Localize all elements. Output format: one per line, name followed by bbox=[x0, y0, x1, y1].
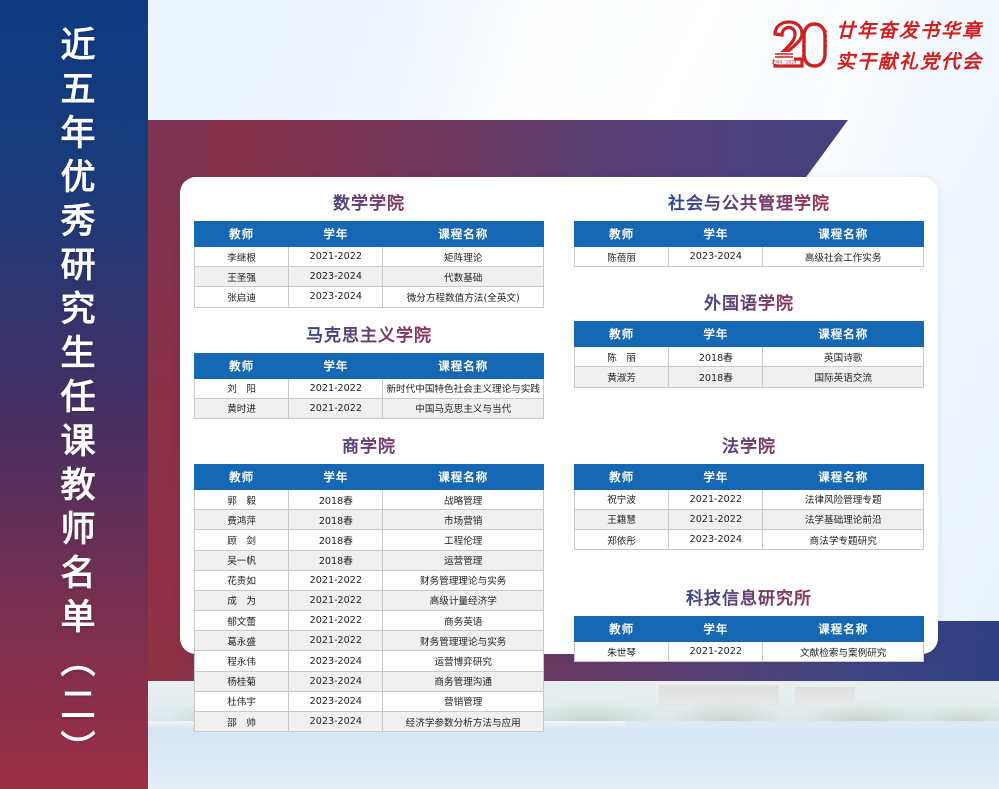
department-table: 教师学年课程名称祝宁波2021-2022法律风险管理专题王籍慧2021-2022… bbox=[574, 464, 924, 551]
table-header-row: 教师学年课程名称 bbox=[575, 464, 924, 489]
course-name-cell: 营销管理 bbox=[383, 691, 544, 711]
anniversary-logo: 2004 · 2024 廿年奋发书华章 实干献礼党代会 bbox=[771, 16, 983, 74]
table-header-row: 教师学年课程名称 bbox=[575, 222, 924, 247]
department-block: 数学学院教师学年课程名称李继根2021-2022矩阵理论王圣强2023-2024… bbox=[194, 189, 544, 308]
table-header-row: 教师学年课程名称 bbox=[195, 464, 544, 489]
department-block: 法学院教师学年课程名称祝宁波2021-2022法律风险管理专题王籍慧2021-2… bbox=[574, 432, 924, 551]
logo-slogan-line1: 廿年奋发书华章 bbox=[836, 16, 983, 43]
column-header: 学年 bbox=[669, 617, 763, 642]
teacher-name-cell: 朱世琴 bbox=[575, 642, 669, 662]
academic-year-cell: 2018春 bbox=[289, 510, 383, 530]
logo-years-text: 2004 · 2024 bbox=[771, 60, 797, 65]
course-name-cell: 英国诗歌 bbox=[763, 347, 924, 367]
column-header: 教师 bbox=[575, 464, 669, 489]
academic-year-cell: 2021-2022 bbox=[289, 611, 383, 631]
academic-year-cell: 2021-2022 bbox=[289, 398, 383, 418]
column-header: 学年 bbox=[669, 464, 763, 489]
department-block: 科技信息研究所教师学年课程名称朱世琴2021-2022文献检索与案例研究 bbox=[574, 584, 924, 662]
teacher-name-cell: 程永伟 bbox=[195, 651, 289, 671]
course-name-cell: 商务管理沟通 bbox=[383, 671, 544, 691]
table-row: 李继根2021-2022矩阵理论 bbox=[195, 247, 544, 267]
academic-year-cell: 2023-2024 bbox=[289, 671, 383, 691]
table-row: 王籍慧2021-2022法学基础理论前沿 bbox=[575, 509, 924, 529]
department-title: 法学院 bbox=[574, 432, 924, 457]
column-header: 教师 bbox=[195, 353, 289, 378]
teacher-name-cell: 杜伟宇 bbox=[195, 691, 289, 711]
teacher-name-cell: 花贵如 bbox=[195, 570, 289, 590]
department-title: 社会与公共管理学院 bbox=[574, 189, 924, 214]
academic-year-cell: 2018春 bbox=[289, 550, 383, 570]
table-row: 刘 阳2021-2022新时代中国特色社会主义理论与实践 bbox=[195, 378, 544, 398]
academic-year-cell: 2021-2022 bbox=[669, 509, 763, 529]
academic-year-cell: 2018春 bbox=[669, 347, 763, 367]
course-name-cell: 经济学参数分析方法与应用 bbox=[383, 712, 544, 732]
column-header: 课程名称 bbox=[383, 464, 544, 489]
teacher-name-cell: 杨桂菊 bbox=[195, 671, 289, 691]
teacher-name-cell: 费鸿萍 bbox=[195, 510, 289, 530]
table-row: 陈 丽2018春英国诗歌 bbox=[575, 347, 924, 367]
course-name-cell: 运营管理 bbox=[383, 550, 544, 570]
table-row: 成 为2021-2022高级计量经济学 bbox=[195, 590, 544, 610]
table-header-row: 教师学年课程名称 bbox=[575, 617, 924, 642]
table-row: 吴一帆2018春运营管理 bbox=[195, 550, 544, 570]
table-row: 顾 剑2018春工程伦理 bbox=[195, 530, 544, 550]
column-header: 学年 bbox=[289, 222, 383, 247]
department-title: 数学学院 bbox=[194, 189, 544, 214]
table-row: 祝宁波2021-2022法律风险管理专题 bbox=[575, 489, 924, 509]
academic-year-cell: 2018春 bbox=[289, 489, 383, 509]
course-name-cell: 中国马克思主义与当代 bbox=[383, 398, 544, 418]
department-block: 外国语学院教师学年课程名称陈 丽2018春英国诗歌黄淑芳2018春国际英语交流 bbox=[574, 289, 924, 387]
course-name-cell: 法律风险管理专题 bbox=[763, 489, 924, 509]
column-header: 教师 bbox=[575, 222, 669, 247]
table-row: 郁文蕾2021-2022商务英语 bbox=[195, 611, 544, 631]
teacher-name-cell: 葛永盛 bbox=[195, 631, 289, 651]
course-name-cell: 财务管理理论与实务 bbox=[383, 570, 544, 590]
content-card: 数学学院教师学年课程名称李继根2021-2022矩阵理论王圣强2023-2024… bbox=[180, 177, 938, 654]
column-header: 教师 bbox=[575, 617, 669, 642]
table-row: 邵 帅2023-2024经济学参数分析方法与应用 bbox=[195, 712, 544, 732]
table-row: 黄淑芳2018春国际英语交流 bbox=[575, 367, 924, 387]
table-row: 王圣强2023-2024代数基础 bbox=[195, 267, 544, 287]
logo-20-icon: 2004 · 2024 bbox=[771, 19, 827, 71]
column-header: 教师 bbox=[575, 322, 669, 347]
academic-year-cell: 2021-2022 bbox=[289, 631, 383, 651]
logo-slogan-line2: 实干献礼党代会 bbox=[836, 47, 983, 74]
table-row: 花贵如2021-2022财务管理理论与实务 bbox=[195, 570, 544, 590]
academic-year-cell: 2021-2022 bbox=[289, 378, 383, 398]
department-block: 商学院教师学年课程名称郭 毅2018春战略管理费鸿萍2018春市场营销顾 剑20… bbox=[194, 432, 544, 732]
teacher-name-cell: 王籍慧 bbox=[575, 509, 669, 529]
table-header-row: 教师学年课程名称 bbox=[195, 353, 544, 378]
table-row: 朱世琴2021-2022文献检索与案例研究 bbox=[575, 642, 924, 662]
column-header: 课程名称 bbox=[763, 322, 924, 347]
teacher-name-cell: 陈蓓丽 bbox=[575, 247, 669, 267]
department-table: 教师学年课程名称朱世琴2021-2022文献检索与案例研究 bbox=[574, 616, 924, 662]
course-name-cell: 文献检索与案例研究 bbox=[763, 642, 924, 662]
academic-year-cell: 2021-2022 bbox=[669, 642, 763, 662]
academic-year-cell: 2023-2024 bbox=[289, 651, 383, 671]
course-name-cell: 工程伦理 bbox=[383, 530, 544, 550]
column-header: 学年 bbox=[669, 322, 763, 347]
department-table: 教师学年课程名称陈 丽2018春英国诗歌黄淑芳2018春国际英语交流 bbox=[574, 321, 924, 387]
teacher-name-cell: 刘 阳 bbox=[195, 378, 289, 398]
department-table: 教师学年课程名称郭 毅2018春战略管理费鸿萍2018春市场营销顾 剑2018春… bbox=[194, 464, 544, 732]
department-title: 科技信息研究所 bbox=[574, 584, 924, 609]
teacher-name-cell: 成 为 bbox=[195, 590, 289, 610]
column-header: 学年 bbox=[669, 222, 763, 247]
table-row: 郑依彤2023-2024商法学专题研究 bbox=[575, 529, 924, 549]
column-header: 课程名称 bbox=[383, 222, 544, 247]
course-name-cell: 财务管理理论与实务 bbox=[383, 631, 544, 651]
sidebar: 近五年优秀研究生任课教师名单（二） bbox=[0, 0, 148, 789]
left-column: 数学学院教师学年课程名称李继根2021-2022矩阵理论王圣强2023-2024… bbox=[194, 189, 544, 745]
department-table: 教师学年课程名称李继根2021-2022矩阵理论王圣强2023-2024代数基础… bbox=[194, 221, 544, 308]
table-row: 黄时进2021-2022中国马克思主义与当代 bbox=[195, 398, 544, 418]
academic-year-cell: 2023-2024 bbox=[289, 287, 383, 307]
department-title: 外国语学院 bbox=[574, 289, 924, 314]
teacher-name-cell: 陈 丽 bbox=[575, 347, 669, 367]
course-name-cell: 市场营销 bbox=[383, 510, 544, 530]
course-name-cell: 法学基础理论前沿 bbox=[763, 509, 924, 529]
academic-year-cell: 2023-2024 bbox=[289, 712, 383, 732]
course-name-cell: 微分方程数值方法(全英文) bbox=[383, 287, 544, 307]
teacher-name-cell: 郭 毅 bbox=[195, 489, 289, 509]
teacher-name-cell: 李继根 bbox=[195, 247, 289, 267]
department-table: 教师学年课程名称陈蓓丽2023-2024高级社会工作实务 bbox=[574, 221, 924, 267]
table-row: 杨桂菊2023-2024商务管理沟通 bbox=[195, 671, 544, 691]
top-slanted-banner bbox=[148, 120, 848, 180]
academic-year-cell: 2018春 bbox=[669, 367, 763, 387]
academic-year-cell: 2021-2022 bbox=[669, 489, 763, 509]
academic-year-cell: 2021-2022 bbox=[289, 590, 383, 610]
department-block: 社会与公共管理学院教师学年课程名称陈蓓丽2023-2024高级社会工作实务 bbox=[574, 189, 924, 267]
academic-year-cell: 2021-2022 bbox=[289, 247, 383, 267]
column-header: 学年 bbox=[289, 464, 383, 489]
teacher-name-cell: 吴一帆 bbox=[195, 550, 289, 570]
academic-year-cell: 2018春 bbox=[289, 530, 383, 550]
academic-year-cell: 2021-2022 bbox=[289, 570, 383, 590]
two-column-layout: 数学学院教师学年课程名称李继根2021-2022矩阵理论王圣强2023-2024… bbox=[180, 177, 938, 745]
teacher-name-cell: 黄时进 bbox=[195, 398, 289, 418]
teacher-name-cell: 顾 剑 bbox=[195, 530, 289, 550]
table-row: 杜伟宇2023-2024营销管理 bbox=[195, 691, 544, 711]
column-header: 课程名称 bbox=[763, 464, 924, 489]
table-row: 陈蓓丽2023-2024高级社会工作实务 bbox=[575, 247, 924, 267]
teacher-name-cell: 郁文蕾 bbox=[195, 611, 289, 631]
table-header-row: 教师学年课程名称 bbox=[575, 322, 924, 347]
column-header: 学年 bbox=[289, 353, 383, 378]
table-row: 葛永盛2021-2022财务管理理论与实务 bbox=[195, 631, 544, 651]
teacher-name-cell: 祝宁波 bbox=[575, 489, 669, 509]
department-title: 马克思主义学院 bbox=[194, 321, 544, 346]
logo-slogan: 廿年奋发书华章 实干献礼党代会 bbox=[836, 16, 983, 74]
department-title: 商学院 bbox=[194, 432, 544, 457]
course-name-cell: 国际英语交流 bbox=[763, 367, 924, 387]
teacher-name-cell: 王圣强 bbox=[195, 267, 289, 287]
academic-year-cell: 2023-2024 bbox=[289, 267, 383, 287]
course-name-cell: 运营博弈研究 bbox=[383, 651, 544, 671]
course-name-cell: 矩阵理论 bbox=[383, 247, 544, 267]
column-header: 教师 bbox=[195, 222, 289, 247]
academic-year-cell: 2023-2024 bbox=[669, 247, 763, 267]
column-header: 课程名称 bbox=[763, 222, 924, 247]
course-name-cell: 商法学专题研究 bbox=[763, 529, 924, 549]
teacher-name-cell: 黄淑芳 bbox=[575, 367, 669, 387]
department-table: 教师学年课程名称刘 阳2021-2022新时代中国特色社会主义理论与实践黄时进2… bbox=[194, 353, 544, 419]
table-row: 张启迪2023-2024微分方程数值方法(全英文) bbox=[195, 287, 544, 307]
teacher-name-cell: 郑依彤 bbox=[575, 529, 669, 549]
table-row: 程永伟2023-2024运营博弈研究 bbox=[195, 651, 544, 671]
column-header: 课程名称 bbox=[383, 353, 544, 378]
course-name-cell: 新时代中国特色社会主义理论与实践 bbox=[383, 378, 544, 398]
table-row: 费鸿萍2018春市场营销 bbox=[195, 510, 544, 530]
column-header: 课程名称 bbox=[763, 617, 924, 642]
table-header-row: 教师学年课程名称 bbox=[195, 222, 544, 247]
course-name-cell: 商务英语 bbox=[383, 611, 544, 631]
course-name-cell: 高级计量经济学 bbox=[383, 590, 544, 610]
academic-year-cell: 2023-2024 bbox=[669, 529, 763, 549]
column-header: 教师 bbox=[195, 464, 289, 489]
course-name-cell: 高级社会工作实务 bbox=[763, 247, 924, 267]
academic-year-cell: 2023-2024 bbox=[289, 691, 383, 711]
department-block: 马克思主义学院教师学年课程名称刘 阳2021-2022新时代中国特色社会主义理论… bbox=[194, 321, 544, 419]
course-name-cell: 战略管理 bbox=[383, 489, 544, 509]
table-row: 郭 毅2018春战略管理 bbox=[195, 489, 544, 509]
course-name-cell: 代数基础 bbox=[383, 267, 544, 287]
page-title: 近五年优秀研究生任课教师名单（二） bbox=[57, 16, 92, 774]
right-column: 社会与公共管理学院教师学年课程名称陈蓓丽2023-2024高级社会工作实务外国语… bbox=[574, 189, 924, 745]
teacher-name-cell: 邵 帅 bbox=[195, 712, 289, 732]
teacher-name-cell: 张启迪 bbox=[195, 287, 289, 307]
